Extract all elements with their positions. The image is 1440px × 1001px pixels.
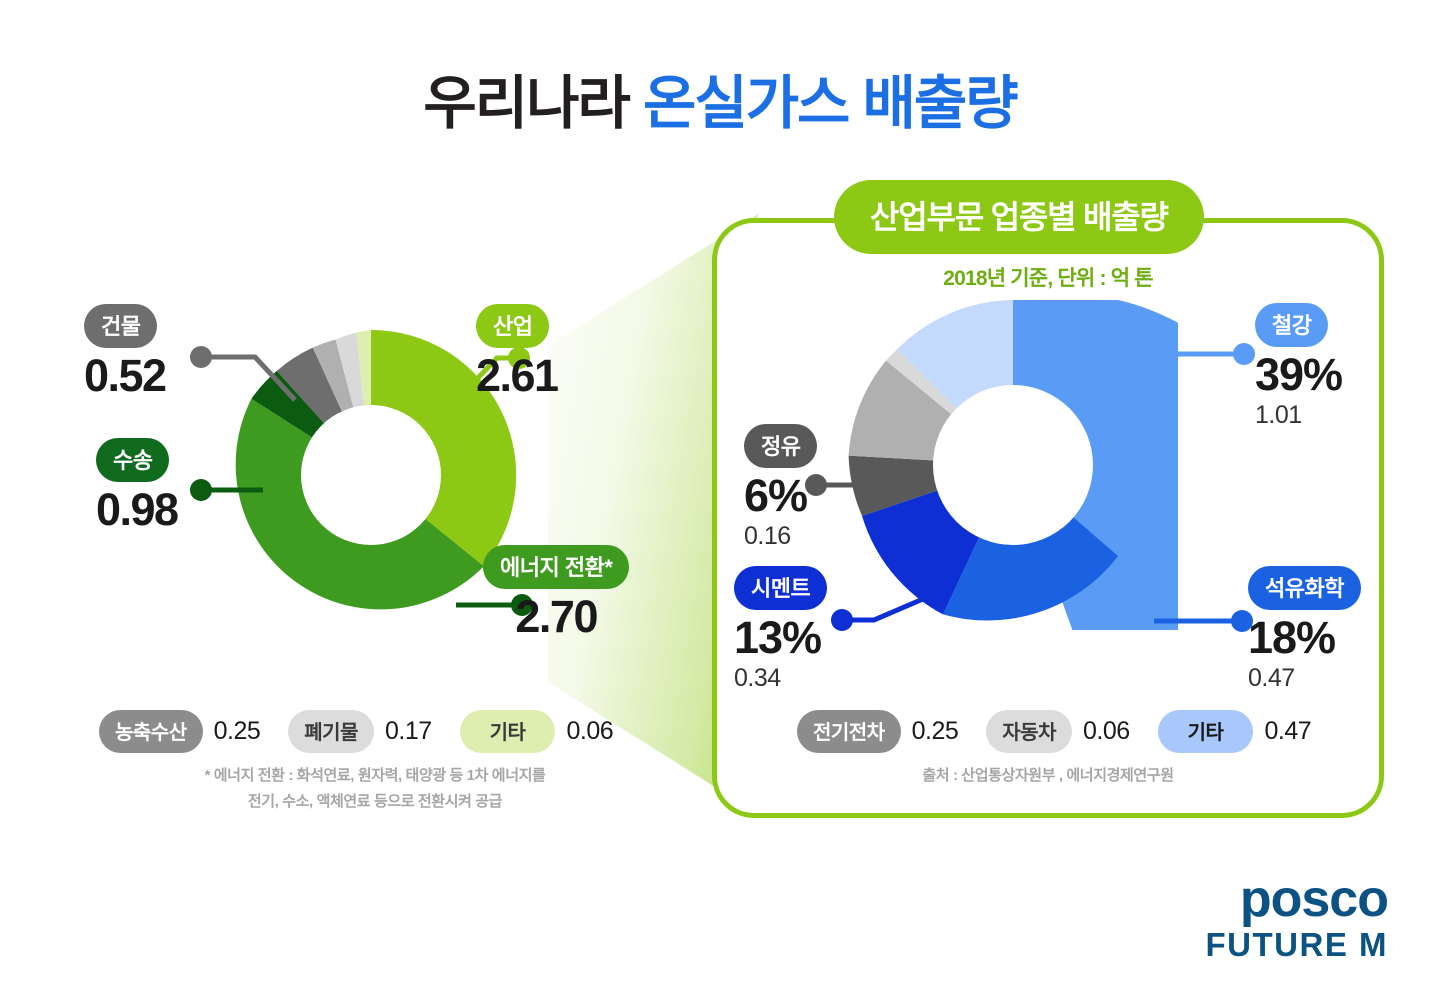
legend-item-automobile: 자동차 0.06 bbox=[986, 710, 1129, 753]
legend-pill-electric: 전기전차 bbox=[797, 710, 901, 753]
callout-transport-value: 0.98 bbox=[96, 487, 178, 532]
callout-transport: 수송 0.98 bbox=[96, 438, 178, 532]
sector-legend: 농축수산 0.25 폐기물 0.17 기타 0.06 bbox=[99, 710, 613, 753]
legend-item-waste: 폐기물 0.17 bbox=[288, 710, 431, 753]
callout-steel-value: 1.01 bbox=[1255, 401, 1342, 430]
posco-future-m-logo: posco FUTURE M bbox=[1206, 875, 1388, 963]
leader-steel bbox=[1152, 332, 1262, 392]
legend-pill-waste: 폐기물 bbox=[288, 710, 374, 753]
legend-value-other: 0.06 bbox=[566, 717, 613, 746]
callout-petrochemical-pill: 석유화학 bbox=[1248, 566, 1361, 610]
callout-refining-value: 0.16 bbox=[744, 522, 817, 551]
industry-panel-heading: 산업부문 업종별 배출량 bbox=[834, 180, 1204, 254]
industry-donut-hole bbox=[933, 385, 1093, 545]
page-title: 우리나라 온실가스 배출량 bbox=[0, 56, 1440, 140]
callout-refining-pill: 정유 bbox=[744, 424, 817, 468]
energy-footnote: * 에너지 전환 : 화석연료, 원자력, 태양광 등 1차 에너지를 전기, … bbox=[110, 763, 640, 816]
callout-cement: 시멘트 13% 0.34 bbox=[734, 566, 827, 693]
industry-legend: 전기전차 0.25 자동차 0.06 기타 0.47 bbox=[797, 710, 1311, 753]
title-part-dark: 우리나라 bbox=[423, 71, 628, 136]
title-part-blue: 온실가스 배출량 bbox=[643, 71, 1017, 136]
footnote-line-1: * 에너지 전환 : 화석연료, 원자력, 태양광 등 1차 에너지를 bbox=[110, 763, 640, 789]
callout-building-pill: 건물 bbox=[84, 304, 157, 348]
legend-value-other-industry: 0.47 bbox=[1264, 717, 1311, 746]
infographic-canvas: 우리나라 온실가스 배출량 산업부문 업종별 배출량 2018년 기준, 단위 … bbox=[0, 0, 1440, 1001]
callout-industry-pill: 산업 bbox=[476, 304, 549, 348]
callout-industry: 산업 2.61 bbox=[476, 304, 558, 398]
leader-cement bbox=[826, 592, 936, 652]
callout-cement-pill: 시멘트 bbox=[734, 566, 827, 610]
leader-petrochemical bbox=[1150, 596, 1260, 646]
callout-industry-value: 2.61 bbox=[476, 353, 558, 398]
callout-petrochemical: 석유화학 18% 0.47 bbox=[1248, 566, 1361, 693]
legend-item-electric: 전기전차 0.25 bbox=[797, 710, 958, 753]
legend-item-other: 기타 0.47 bbox=[1158, 710, 1311, 753]
callout-steel: 철강 39% 1.01 bbox=[1255, 303, 1342, 430]
callout-cement-value: 0.34 bbox=[734, 664, 827, 693]
leader-building bbox=[185, 345, 315, 445]
legend-item-other: 기타 0.06 bbox=[460, 710, 613, 753]
legend-pill-automobile: 자동차 bbox=[986, 710, 1072, 753]
legend-item-agriculture: 농축수산 0.25 bbox=[99, 710, 260, 753]
callout-energy-pill: 에너지 전환* bbox=[483, 545, 629, 589]
leader-transport bbox=[185, 460, 285, 520]
footnote-line-2: 전기, 수소, 액체연료 등으로 전환시켜 공급 bbox=[110, 789, 640, 815]
legend-value-electric: 0.25 bbox=[912, 717, 959, 746]
callout-building-value: 0.52 bbox=[84, 353, 166, 398]
legend-pill-other: 기타 bbox=[460, 710, 556, 753]
legend-pill-other-industry: 기타 bbox=[1158, 710, 1254, 753]
legend-value-automobile: 0.06 bbox=[1083, 717, 1130, 746]
callout-petrochemical-percent: 18% bbox=[1248, 615, 1361, 660]
callout-energy: 에너지 전환* 2.70 bbox=[483, 545, 629, 639]
legend-pill-agriculture: 농축수산 bbox=[99, 710, 203, 753]
callout-cement-percent: 13% bbox=[734, 615, 827, 660]
logo-wordmark: posco bbox=[1206, 875, 1388, 924]
callout-building: 건물 0.52 bbox=[84, 304, 166, 398]
industry-panel-subtitle: 2018년 기준, 단위 : 억 톤 bbox=[712, 262, 1384, 292]
callout-steel-pill: 철강 bbox=[1255, 303, 1328, 347]
source-note: 출처 : 산업통상자원부 , 에너지경제연구원 bbox=[712, 763, 1384, 789]
callout-petrochemical-value: 0.47 bbox=[1248, 664, 1361, 693]
callout-transport-pill: 수송 bbox=[96, 438, 169, 482]
legend-value-waste: 0.17 bbox=[385, 717, 432, 746]
callout-steel-percent: 39% bbox=[1255, 352, 1342, 397]
logo-subtitle: FUTURE M bbox=[1206, 927, 1388, 963]
legend-value-agriculture: 0.25 bbox=[214, 717, 261, 746]
callout-refining-percent: 6% bbox=[744, 473, 817, 518]
callout-energy-value: 2.70 bbox=[483, 594, 629, 639]
callout-refining: 정유 6% 0.16 bbox=[744, 424, 817, 551]
